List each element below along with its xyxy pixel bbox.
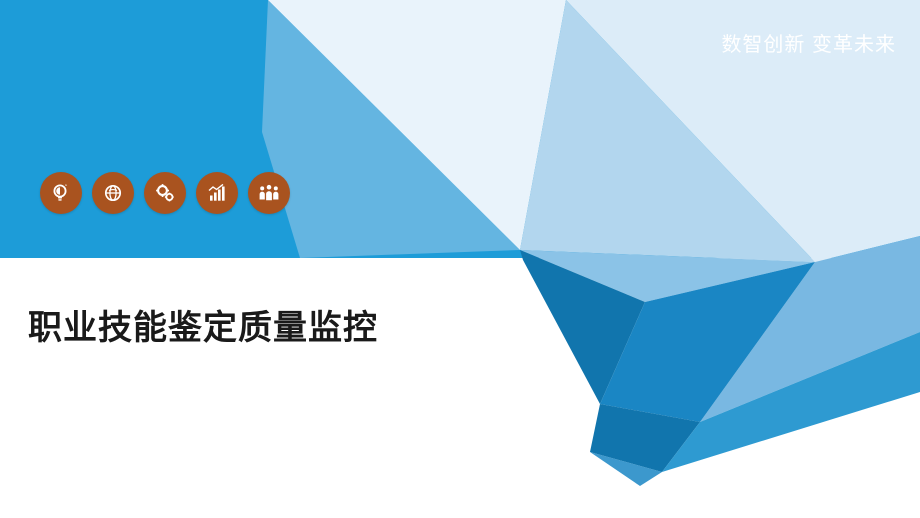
gears-icon — [144, 172, 186, 214]
people-group-icon — [248, 172, 290, 214]
polygon-artwork — [0, 0, 920, 518]
slide-canvas: 数智创新 变革未来 — [0, 0, 920, 518]
page-title: 职业技能鉴定质量监控 — [28, 300, 378, 349]
bar-chart-icon — [196, 172, 238, 214]
tagline-text: 数智创新 变革未来 — [721, 28, 896, 57]
icon-badge-row — [40, 172, 290, 214]
lightbulb-gear-icon — [40, 172, 82, 214]
globe-icon — [92, 172, 134, 214]
